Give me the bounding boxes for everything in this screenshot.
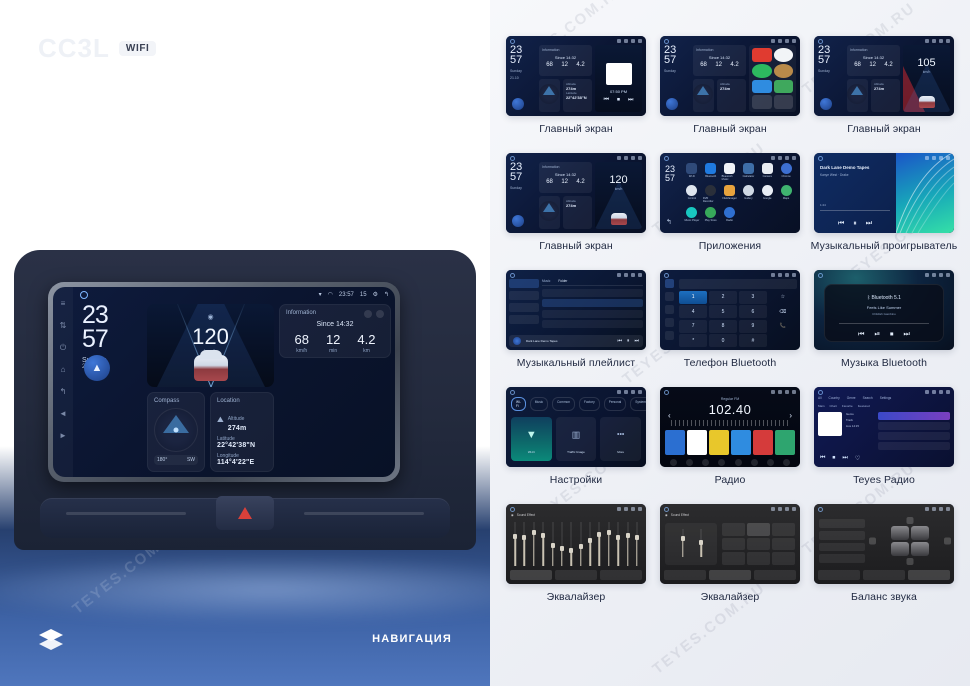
longitude-value: 114°4'22"E [217,459,267,466]
app-tile[interactable]: DVR Recorder [703,185,719,203]
stat-value: 68 [700,62,707,68]
nav-settings[interactable]: Settings [880,396,892,400]
balance-right-button[interactable] [944,538,951,545]
card-label: Traffic Usage [556,450,597,454]
preset-pop[interactable] [722,523,745,536]
stop-icon[interactable]: ⏹ [832,455,835,462]
gallery-item[interactable]: Баланс звука [810,504,958,617]
gallery-item[interactable]: Regular FM ‹ › 102.40 [656,387,804,500]
footer-eq[interactable] [555,570,597,580]
stat-unit: min [326,348,340,354]
thumb-bluetooth-phone[interactable]: 1 2 3 ☆ 4 5 6 ⌫ 7 8 9 📞 [660,270,800,350]
compass-direction: SW [187,457,195,463]
thumb-radio[interactable]: Regular FM ‹ › 102.40 [660,387,800,467]
information-since: Since 14:32 [850,55,897,60]
ta-icon[interactable] [751,459,758,466]
progress-bar[interactable] [839,323,929,324]
key-4[interactable]: 4 [679,305,707,318]
call-icon[interactable] [665,318,674,327]
gallery-item[interactable]: All Country Genre Search Settings Main C… [810,387,958,500]
station-row[interactable] [878,412,950,420]
gallery-item[interactable]: ◉ Sound Effect [502,504,650,617]
gallery-caption: Эквалайзер [701,591,760,617]
preset-tile[interactable] [709,430,729,455]
app-label: Music Player [684,219,699,222]
screen-sidebar[interactable]: ≡ ⇅ ⏻ ⌂ ↰ ◄ ► [53,287,73,477]
thumb-music-player[interactable]: Dark Lane Demo Tapes Kanye West · Drake … [814,153,954,233]
gear-icon[interactable]: ⚙ [373,291,378,298]
headline-line2: Нового Продукта! [38,187,366,230]
settings-card-traffic[interactable]: ▥ Traffic Usage [556,417,597,461]
preset-dance[interactable] [747,552,770,565]
eq-slider[interactable] [560,522,564,566]
head-unit-screen[interactable]: ≡ ⇅ ⏻ ⌂ ↰ ◄ ► ▾ ◠ 23:57 [53,287,395,477]
location-card[interactable]: Altitude 274m [717,79,746,112]
prev-icon[interactable]: ⏮ [604,97,609,104]
track-row[interactable] [542,299,643,307]
eq-slider[interactable] [597,522,601,566]
eq-slider[interactable] [626,522,630,566]
key-1[interactable]: 1 [679,291,707,304]
nav-country[interactable]: Country [829,396,840,400]
app-tile[interactable]: Chrome [778,163,794,181]
track-row[interactable] [542,289,643,297]
next-icon[interactable]: ⏭ [628,97,633,104]
balance-list[interactable] [819,519,865,563]
gallery-caption: Музыка Bluetooth [841,357,927,383]
car-model-graphic [194,355,228,381]
app-icon[interactable] [774,80,794,94]
station-row[interactable] [878,422,950,430]
app-tile[interactable]: Control [684,185,700,203]
af-icon[interactable] [767,459,774,466]
media-widget[interactable]: 07:50 PM ⏮ ⏹ ⏭ [595,45,642,112]
thumb-settings[interactable]: Wi-Fi Music Common Factory Personal Syst… [506,387,646,467]
stat-value: 4.2 [576,62,584,68]
track-row[interactable] [542,320,643,328]
equalizer-footer[interactable] [818,570,950,580]
phone-number-input[interactable] [679,279,797,289]
preset-bass[interactable] [772,538,795,551]
favorite-icon[interactable]: ♡ [855,455,860,462]
home-icon[interactable] [818,273,823,278]
gallery-caption: Главный экран [847,123,921,149]
rds-icon[interactable] [735,459,742,466]
navigation-arrow-icon[interactable] [512,215,524,227]
footer-field[interactable] [908,570,950,580]
equalizer-footer[interactable] [510,570,642,580]
sub-chart[interactable]: Chart [830,404,837,408]
power-icon[interactable]: ⏻ [59,343,68,352]
location-card[interactable]: Altitude 274m [563,196,592,229]
hazard-button[interactable] [216,496,274,530]
eq-icon[interactable]: ⇅ [59,321,68,330]
volume-up-icon[interactable]: ► [59,431,68,440]
thumb-sound-balance[interactable] [814,504,954,584]
footer-field[interactable] [754,570,796,580]
call-icon[interactable]: 📞 [769,320,797,333]
thumb-home-speed[interactable]: 23 57 Sunday Information Since 14:32 68 … [506,153,646,233]
longitude-row: Longitude 114°4'22"E [217,453,267,466]
app-label: FileManager [722,197,736,200]
thumb-playlist[interactable]: Music Folder Dark Lane Demo Tapes ⏮ [506,270,646,350]
compass-card[interactable] [539,196,560,229]
refresh-icon[interactable] [364,310,372,318]
settings-icon[interactable] [665,331,674,340]
compass-card[interactable]: Compass 180° SW [147,392,205,472]
preset-jazz[interactable] [722,538,745,551]
preset-classic[interactable] [747,523,770,536]
prev-icon[interactable]: ⏮ [820,455,825,462]
playlist-tabs[interactable]: Music Folder [542,279,643,286]
gallery-item[interactable]: 23 57 Sunday 21.10 Information Since 14:… [502,36,650,149]
eq-slider[interactable] [699,529,703,557]
pause-icon[interactable]: ⏸ [853,220,857,228]
search-icon[interactable] [686,459,693,466]
vent-slit [66,512,186,515]
compass-needle [174,428,179,433]
app-icon[interactable] [752,95,772,109]
key-3[interactable]: 3 [739,291,767,304]
key-2[interactable]: 2 [709,291,737,304]
progress-bar[interactable] [820,210,890,211]
stop-icon[interactable]: ⏹ [890,331,894,339]
thumb-equalizer-bands[interactable]: ◉ Sound Effect [506,504,646,584]
compass-card[interactable] [693,79,714,112]
stop-icon[interactable]: ⏹ [617,97,620,104]
home-icon[interactable] [510,507,515,512]
home-icon[interactable] [818,507,823,512]
information-card[interactable]: Information Since 14:32 68 12 4.2 [847,45,900,76]
balance-pad[interactable] [871,519,949,563]
gallery-item[interactable]: Wi-Fi Music Common Factory Personal Syst… [502,387,650,500]
app-icon[interactable] [752,48,772,62]
settings-cards[interactable]: ▼ Wi-Fi ▥ Traffic Usage ••• More [511,417,641,461]
footer-off[interactable] [664,570,706,580]
home-icon[interactable] [510,156,515,161]
latitude-value: 22°42'38"N [566,95,589,100]
speed-unit: km/h [595,187,642,191]
key-hash[interactable]: # [739,334,767,347]
stat-value: 4.2 [576,179,584,185]
list-item-front[interactable] [819,519,865,528]
information-since: Since 14:32 [542,55,589,60]
thumb-home-speed-red[interactable]: 23 57 Sunday Information Since 14:32 68 … [814,36,954,116]
thumb-apps[interactable]: Wi-Fi Bluetooth Bluetooth Music Calculat… [660,153,800,233]
preset-tile[interactable] [687,430,707,455]
location-card[interactable]: Altitude 274m [871,79,900,112]
preset-grid[interactable] [722,523,795,565]
speed-widget[interactable]: ◉ 120 km/h [147,304,274,387]
app-tile[interactable]: Google [759,185,775,203]
preset-custom[interactable] [722,552,745,565]
preset-tile[interactable] [731,430,751,455]
thumb-teyes-radio[interactable]: All Country Genre Search Settings Main C… [814,387,954,467]
compass-card[interactable] [539,79,560,112]
footer-off[interactable] [818,570,860,580]
back-icon[interactable]: ↰ [59,387,68,396]
station-row[interactable] [878,432,950,440]
list-item-rear[interactable] [819,531,865,540]
app-tile[interactable]: Music Player [684,207,700,222]
band-icon[interactable] [670,459,677,466]
pause-icon[interactable]: ⏸ [627,338,630,344]
station-row[interactable] [878,442,950,450]
home-indicator-icon[interactable] [80,291,88,299]
list-item-right[interactable] [819,554,865,563]
back-icon[interactable]: ↰ [666,218,672,226]
key-0[interactable]: 0 [709,334,737,347]
thumb-equalizer-presets[interactable]: ◉ Sound Effect [660,504,800,584]
recent-icon[interactable] [665,305,674,314]
media-controls[interactable]: ⏮ ⏸ ⏭ [820,220,890,228]
app-icon[interactable] [774,95,794,109]
app-icon[interactable] [752,80,772,94]
thumb-home-media[interactable]: 23 57 Sunday 21.10 Information Since 14:… [506,36,646,116]
eq-slider[interactable] [513,522,517,566]
home-icon[interactable] [664,156,669,161]
settings-card-wifi[interactable]: ▼ Wi-Fi [511,417,552,461]
back-icon[interactable]: ↰ [384,291,389,298]
preset-tile[interactable] [775,430,795,455]
eq-slider[interactable] [522,522,526,566]
home-icon[interactable] [664,390,669,395]
navigation-arrow-icon[interactable]: ▲ [84,355,110,381]
keypad-icon[interactable] [665,279,674,288]
gallery-item[interactable]: 23 57 Sunday Information Since 14:32 68 … [502,153,650,266]
home-icon[interactable] [664,273,669,278]
balance-up-button[interactable] [907,517,914,524]
radio-scale[interactable] [671,420,789,426]
speed-widget[interactable]: 105 km/h [903,45,950,112]
eq-slider[interactable] [532,522,536,566]
app-tile[interactable]: Radio [722,207,738,222]
key-star[interactable]: * [679,334,707,347]
tab-music[interactable]: Music [530,397,548,411]
information-card[interactable]: Information Since 14:32 68 12 4.2 [693,45,746,76]
thumb-bluetooth-music[interactable]: ᛒ Bluetooth 5.1 Feels Like Summer Childi… [814,270,954,350]
gallery-item[interactable]: 23 57 Sunday Information Since 14:32 68 … [656,36,804,149]
meta-track: Track [846,418,874,422]
footer-eq[interactable] [709,570,751,580]
information-card[interactable]: Information Since 14:32 68 km/h [279,304,391,358]
nav-genre[interactable]: Genre [847,396,856,400]
app-icon[interactable] [774,64,794,78]
sidebar-item-album[interactable] [509,291,539,300]
nav-all[interactable]: All [818,396,822,400]
sub-favorite[interactable]: Favorite [842,404,853,408]
home-icon[interactable]: ⌂ [59,365,68,374]
clock-day: Sunday [510,69,536,73]
gallery-item[interactable]: 23 57 Sunday Information Since 14:32 68 … [810,36,958,149]
information-stats: 68 km/h 12 min 4.2 km [286,333,384,354]
media-controls[interactable]: ⏮ ⏹ ⏭ ♡ [820,455,860,462]
tab-folder[interactable]: Folder [558,279,567,285]
app-tile[interactable]: Maps [778,185,794,203]
next-icon[interactable]: ⏭ [904,331,910,339]
apps-grid[interactable]: Wi-Fi Bluetooth Bluetooth Music Calculat… [684,163,794,222]
eq-slider[interactable] [616,522,620,566]
settings-icon[interactable] [783,459,790,466]
radio-presets[interactable] [665,430,795,455]
app-tile[interactable]: Bluetooth [703,163,719,181]
app-tile[interactable]: FileManager [722,185,738,203]
equalizer-sliders[interactable] [511,522,641,566]
tab-common[interactable]: Common [552,397,575,411]
app-label: Gallery [744,197,752,200]
menu-icon[interactable]: ≡ [59,299,68,308]
location-card[interactable]: Altitude 274m Latitude 22°42'38"N [563,79,592,112]
navigation-arrow-icon[interactable] [820,98,832,110]
list-icon[interactable] [702,459,709,466]
status-bar [925,390,950,394]
dial-keypad[interactable]: 1 2 3 ☆ 4 5 6 ⌫ 7 8 9 📞 [679,291,797,347]
home-icon[interactable] [818,156,823,161]
information-actions[interactable] [364,310,384,318]
app-icon[interactable] [774,48,794,62]
eq-slider[interactable] [569,522,573,566]
next-station-icon[interactable]: › [789,411,792,420]
tab-system[interactable]: System [630,397,646,411]
speed-widget[interactable]: 120 km/h [595,162,642,229]
navigation-arrow-icon[interactable] [512,98,524,110]
equalizer-title: Sound Effect [517,513,535,517]
tab-wifi[interactable]: Wi-Fi [511,397,526,411]
sidebar-item-tracks[interactable] [509,279,539,288]
logo-model: CC3L [38,33,110,64]
settings-card-more[interactable]: ••• More [600,417,641,461]
preset-vocal[interactable] [747,538,770,551]
equalizer-footer[interactable] [664,570,796,580]
key-9[interactable]: 9 [739,320,767,333]
information-card[interactable]: Information Since 14:32 68 12 4.2 [539,45,592,76]
gallery-item[interactable]: ᛒ Bluetooth 5.1 Feels Like Summer Childi… [810,270,958,383]
eq-slider[interactable] [541,522,545,566]
preset-hiphop[interactable] [772,552,795,565]
sidebar-item-favorites[interactable] [509,303,539,312]
gallery-item[interactable]: Dark Lane Demo Tapes Kanye West · Drake … [810,153,958,266]
eq-slider[interactable] [588,522,592,566]
eq-slider[interactable] [635,522,639,566]
eq-icon[interactable] [718,459,725,466]
gallery-item[interactable]: Wi-Fi Bluetooth Bluetooth Music Calculat… [656,153,804,266]
play-pause-icon[interactable]: ⏯ [874,331,880,339]
volume-down-icon[interactable]: ◄ [59,409,68,418]
stat-value: 12 [715,62,722,68]
app-icon[interactable] [752,64,772,78]
station-list[interactable] [878,412,950,450]
sub-featured[interactable]: Featured [858,404,870,408]
media-controls[interactable]: ⏮ ⏯ ⏹ ⏭ [825,331,943,339]
prev-icon[interactable]: ⏮ [858,331,864,339]
footer-off[interactable] [510,570,552,580]
footer-field[interactable] [600,570,642,580]
home-icon[interactable] [818,39,823,44]
home-icon[interactable] [510,39,515,44]
eq-slider[interactable] [551,522,555,566]
favorite-icon[interactable]: ☆ [769,291,797,304]
footer-eq[interactable] [863,570,905,580]
home-icon[interactable] [510,390,515,395]
volume-level: 15 [360,292,367,298]
next-icon[interactable]: ⏭ [634,338,639,344]
navigation-arrow-icon[interactable] [666,98,678,110]
preset-tile[interactable] [753,430,773,455]
compass-card[interactable] [847,79,868,112]
sub-main[interactable]: Main [818,404,825,408]
prev-station-icon[interactable]: ‹ [668,411,671,420]
gallery-item[interactable]: 1 2 3 ☆ 4 5 6 ⌫ 7 8 9 📞 [656,270,804,383]
stat-value: 68 [546,179,553,185]
app-tile[interactable]: Calculator [740,163,756,181]
key-7[interactable]: 7 [679,320,707,333]
preset-tile[interactable] [665,430,685,455]
teyes-nav[interactable]: All Country Genre Search Settings [818,396,950,400]
teyes-subnav[interactable]: Main Chart Favorite Featured [818,404,950,408]
home-icon[interactable] [664,507,669,512]
thumb-home-apps[interactable]: 23 57 Sunday Information Since 14:32 68 … [660,36,800,116]
list-item-left[interactable] [819,543,865,552]
preset-rock[interactable] [772,523,795,536]
tab-music[interactable]: Music [542,279,550,285]
media-controls[interactable]: ⏮ ⏹ ⏭ [595,97,642,104]
key-6[interactable]: 6 [739,305,767,318]
gallery-item[interactable]: ◉ Sound Effect [656,504,804,617]
app-tile[interactable]: Bluetooth Music [722,163,738,181]
clock-minutes: 57 [82,328,142,352]
prev-icon[interactable]: ⏮ [838,220,844,228]
app-tile[interactable]: Wi-Fi [684,163,700,181]
home-icon[interactable] [818,390,823,395]
key-8[interactable]: 8 [709,320,737,333]
backspace-icon[interactable]: ⌫ [769,305,797,318]
location-card[interactable]: Location ⛰ Altitude 274m [210,392,274,472]
home-icon[interactable] [510,273,515,278]
prev-icon[interactable]: ⏮ [617,338,622,344]
sidebar-item-artists[interactable] [509,315,539,324]
balance-left-button[interactable] [869,538,876,545]
speed-icon: ◉ [147,313,274,321]
next-icon[interactable]: ⏭ [866,220,872,228]
key-5[interactable]: 5 [709,305,737,318]
eq-slider[interactable] [681,529,685,557]
bass-treble-sliders[interactable] [665,523,717,565]
app-tile[interactable]: Gallery [740,185,756,203]
app-tile[interactable]: Play Store [703,207,719,222]
balance-down-button[interactable] [907,558,914,565]
next-icon[interactable]: ⏭ [842,455,847,462]
radio-toolbar[interactable] [665,459,795,466]
home-icon[interactable] [664,39,669,44]
apps-column[interactable] [749,45,796,112]
eq-slider[interactable] [607,522,611,566]
nav-search[interactable]: Search [863,396,873,400]
contacts-icon[interactable] [665,292,674,301]
tab-factory[interactable]: Factory [579,397,600,411]
status-bar [771,39,796,43]
tab-personal[interactable]: Personal [604,397,627,411]
settings-tabs[interactable]: Wi-Fi Music Common Factory Personal Syst… [511,397,641,411]
gallery-item[interactable]: Music Folder Dark Lane Demo Tapes ⏮ [502,270,650,383]
eq-slider[interactable] [579,522,583,566]
track-row[interactable] [542,310,643,318]
app-tile[interactable]: Camera [759,163,775,181]
now-playing-bar[interactable]: Dark Lane Demo Tapes ⏮ ⏸ ⏭ [509,335,643,347]
dialer-sidebar[interactable] [663,279,676,347]
clock-minutes: 57 [818,55,844,65]
expand-icon[interactable] [376,310,384,318]
information-card[interactable]: Information Since 14:32 68 12 4.2 [539,162,592,193]
